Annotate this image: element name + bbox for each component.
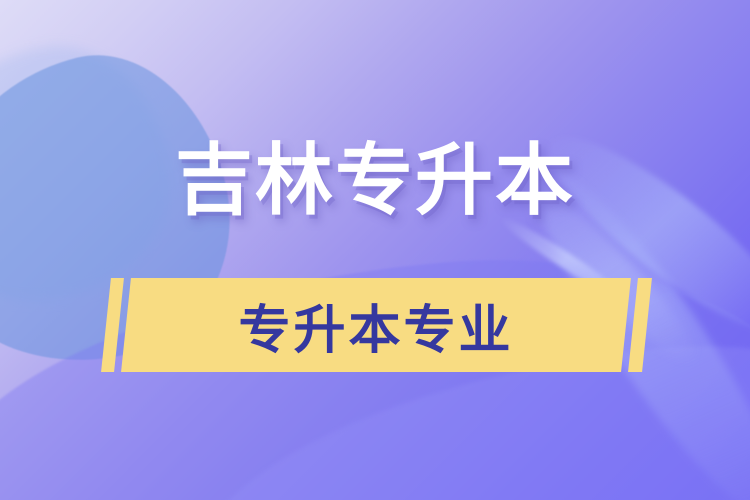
poster-title: 吉林专升本 <box>0 142 750 220</box>
banner-right-edge-stripe <box>628 278 652 372</box>
promo-banner-poster: 吉林专升本 专升本专业 <box>0 0 750 500</box>
banner-label: 专升本专业 <box>126 278 626 372</box>
banner-left-edge-stripe <box>101 278 124 372</box>
subtitle-banner: 专升本专业 <box>0 278 750 372</box>
